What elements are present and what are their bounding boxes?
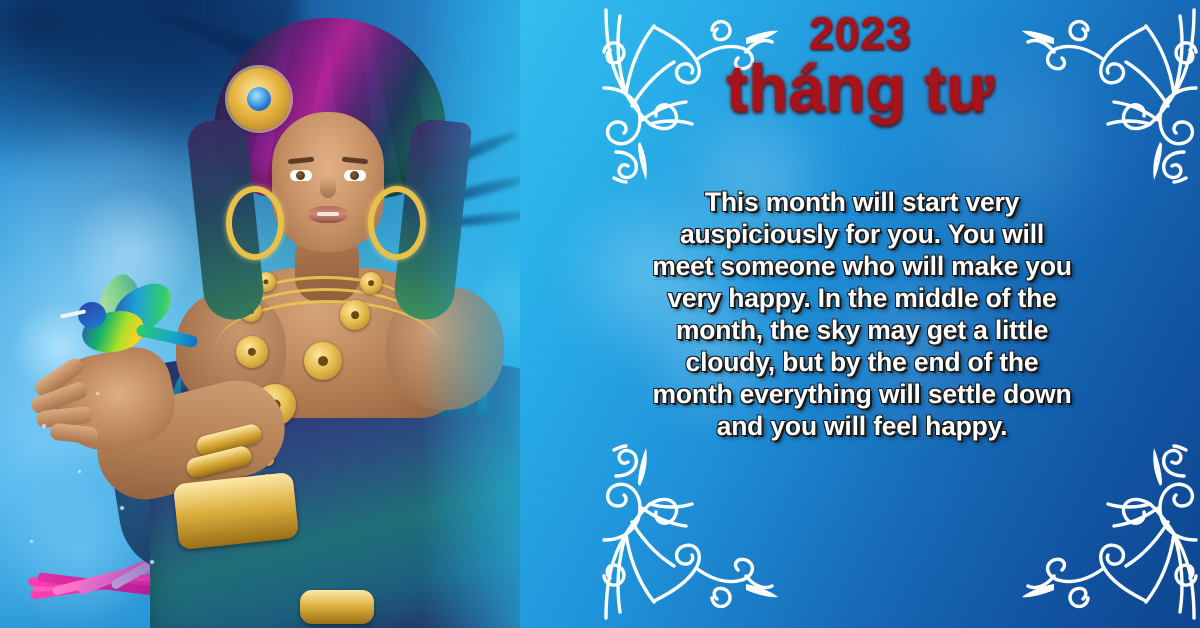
poster-titles: 2023 tháng tư [600,10,1120,123]
calendar-poster: 2023 tháng tư This month will start very… [0,0,1200,628]
lips [308,206,348,223]
month-title: tháng tư [600,55,1120,122]
eyebrow-right [342,157,368,165]
eyebrow-left [288,157,314,165]
horoscope-text: This month will start very auspiciously … [648,186,1076,443]
earring-right-icon [368,186,426,260]
face [272,112,384,252]
eye-left [290,170,312,181]
hummingbird-icon [58,282,178,366]
gold-arm-cuff [173,472,299,550]
turban-brooch-icon [228,68,290,130]
year-label: 2023 [600,10,1120,57]
eye-right [344,170,366,181]
nose [320,178,336,198]
earring-left-icon [226,186,284,260]
gold-cuff [300,590,374,624]
